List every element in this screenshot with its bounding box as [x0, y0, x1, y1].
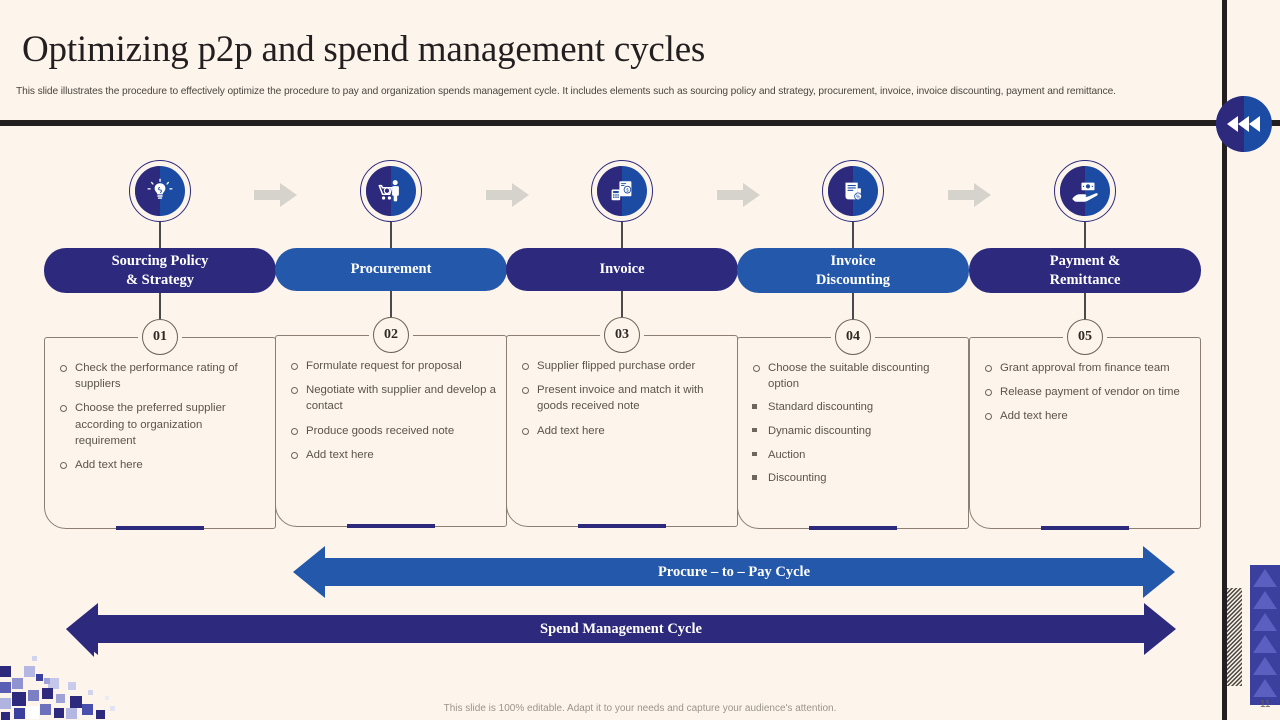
step-label-line2-5: Remittance: [1050, 272, 1121, 288]
list-item: Add text here: [53, 457, 265, 473]
step-connector-bottom-4: [852, 293, 853, 319]
step-icon-ring-3: $: [591, 160, 653, 222]
list-item: Grant approval from finance team: [978, 360, 1190, 376]
step-bullet-list-1: Check the performance rating of supplier…: [53, 360, 265, 473]
arrow-label-spend: Spend Management Cycle: [540, 621, 702, 638]
step-connector-bottom-3: [621, 291, 622, 317]
page-title: Optimizing p2p and spend management cycl…: [22, 28, 705, 71]
step-icon-ring-4: %: [822, 160, 884, 222]
triangle-strip-decoration: [1250, 565, 1280, 705]
step-label-line2-4: Discounting: [816, 272, 890, 288]
step-card-3: Supplier flipped purchase order Present …: [506, 335, 738, 527]
step-bullet-list-2: Formulate request for proposal Negotiate…: [284, 358, 496, 463]
step-number-badge-3: 03: [604, 317, 640, 353]
header-divider: [0, 120, 1280, 126]
step-bullet-list-4: Choose the suitable discounting option: [746, 360, 958, 392]
step-connector-top-1: [159, 222, 160, 248]
step-bullet-list-3: Supplier flipped purchase order Present …: [515, 358, 727, 439]
card-underline-5: [1041, 526, 1129, 530]
list-item: Supplier flipped purchase order: [515, 358, 727, 374]
step-number-badge-4: 04: [835, 319, 871, 355]
step-column-2: Procurement 02 Formulate request for pro…: [275, 160, 507, 527]
arrow-label-p2p: Procure – to – Pay Cycle: [658, 564, 810, 581]
discount-document-icon: %: [828, 166, 878, 216]
step-card-1: Check the performance rating of supplier…: [44, 337, 276, 529]
card-underline-2: [347, 524, 435, 528]
footer-note: This slide is 100% editable. Adapt it to…: [0, 703, 1280, 714]
step-connector-top-4: [852, 222, 853, 248]
step-connector-top-2: [390, 222, 391, 248]
list-item: Negotiate with supplier and develop a co…: [284, 382, 496, 414]
step-label-line2-1: & Strategy: [126, 272, 194, 288]
step-label-line1-4: Invoice: [830, 253, 875, 269]
list-item: Discounting: [746, 471, 958, 486]
list-item: Produce goods received note: [284, 423, 496, 439]
card-underline-1: [116, 526, 204, 530]
card-underline-4: [809, 526, 897, 530]
step-column-5: Payment & Remittance 05 Grant approval f…: [969, 160, 1201, 529]
step-column-3: $ Invoice 03 Supplier flipped purchase o…: [506, 160, 738, 527]
step-connector-top-5: [1084, 222, 1085, 248]
step-label-line1-1: Sourcing Policy: [112, 253, 209, 269]
step-column-4: % Invoice Discounting 04 Choose the suit…: [737, 160, 969, 529]
hand-money-icon: [1060, 166, 1110, 216]
rewind-icon[interactable]: [1216, 96, 1272, 152]
step-number-badge-2: 02: [373, 317, 409, 353]
step-label-2: Procurement: [351, 260, 432, 279]
list-item: Auction: [746, 448, 958, 463]
list-item: Formulate request for proposal: [284, 358, 496, 374]
step-bullet-list-5: Grant approval from finance team Release…: [978, 360, 1190, 425]
hatch-texture-decoration: [1227, 588, 1242, 686]
step-icon-ring-5: [1054, 160, 1116, 222]
list-item: Choose the preferred supplier according …: [53, 400, 265, 449]
step-connector-bottom-2: [390, 291, 391, 317]
invoice-calculator-icon: $: [597, 166, 647, 216]
step-subbullet-list-4: Standard discounting Dynamic discounting…: [746, 400, 958, 485]
list-item: Check the performance rating of supplier…: [53, 360, 265, 392]
list-item: Add text here: [978, 408, 1190, 424]
shopping-cart-person-icon: [366, 166, 416, 216]
list-item: Release payment of vendor on time: [978, 384, 1190, 400]
step-number-badge-5: 05: [1067, 319, 1103, 355]
rewind-triangles-icon: [1227, 116, 1261, 132]
step-pill-3[interactable]: Invoice: [506, 248, 738, 291]
step-label-line1-5: Payment &: [1050, 253, 1120, 269]
step-connector-top-3: [621, 222, 622, 248]
step-card-4: Choose the suitable discounting option S…: [737, 337, 969, 529]
slide-subtitle: This slide illustrates the procedure to …: [16, 86, 1211, 97]
list-item: Dynamic discounting: [746, 424, 958, 439]
step-pill-1[interactable]: Sourcing Policy & Strategy: [44, 248, 276, 293]
step-pill-2[interactable]: Procurement: [275, 248, 507, 291]
list-item: Present invoice and match it with goods …: [515, 382, 727, 414]
list-item: Add text here: [515, 423, 727, 439]
list-item: Choose the suitable discounting option: [746, 360, 958, 392]
svg-text:$: $: [626, 188, 629, 193]
list-item: Add text here: [284, 447, 496, 463]
step-icon-ring-1: [129, 160, 191, 222]
step-pill-4[interactable]: Invoice Discounting: [737, 248, 969, 293]
procure-to-pay-cycle-arrow[interactable]: Procure – to – Pay Cycle: [293, 546, 1175, 598]
spend-management-cycle-arrow[interactable]: Spend Management Cycle: [66, 603, 1176, 655]
lightbulb-icon: [135, 166, 185, 216]
step-connector-bottom-1: [159, 293, 160, 319]
list-item: Standard discounting: [746, 400, 958, 415]
step-card-2: Formulate request for proposal Negotiate…: [275, 335, 507, 527]
step-label-3: Invoice: [599, 260, 644, 279]
card-underline-3: [578, 524, 666, 528]
step-pill-5[interactable]: Payment & Remittance: [969, 248, 1201, 293]
step-icon-ring-2: [360, 160, 422, 222]
svg-text:%: %: [856, 194, 861, 200]
step-connector-bottom-5: [1084, 293, 1085, 319]
step-column-1: Sourcing Policy & Strategy 01 Check the …: [44, 160, 276, 529]
step-card-5: Grant approval from finance team Release…: [969, 337, 1201, 529]
step-number-badge-1: 01: [142, 319, 178, 355]
